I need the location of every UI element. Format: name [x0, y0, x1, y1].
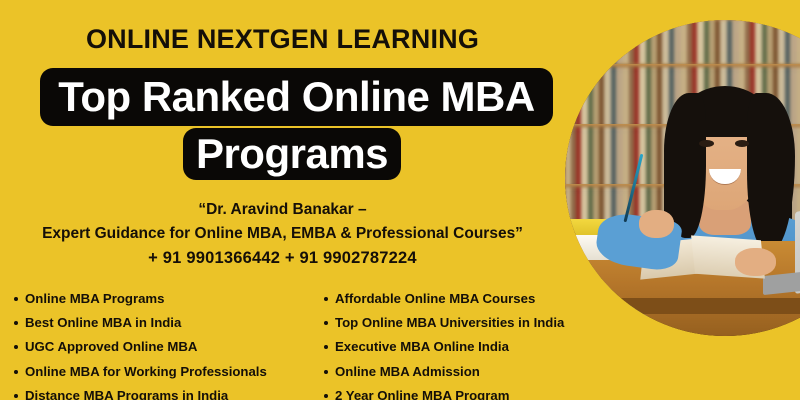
promo-banner: ONLINE NEXTGEN LEARNING Top Ranked Onlin…	[0, 0, 800, 400]
list-item: Online MBA for Working Professionals	[12, 365, 267, 378]
student-photo	[565, 20, 800, 336]
keyword-list-left: Online MBA Programs Best Online MBA in I…	[12, 292, 267, 400]
list-item: Best Online MBA in India	[12, 316, 267, 329]
keyword-list-right: Affordable Online MBA Courses Top Online…	[322, 292, 564, 400]
headline-line-2: Programs	[183, 128, 401, 180]
phone-numbers: + 91 9901366442 + 91 9902787224	[0, 246, 565, 272]
list-item: Online MBA Programs	[12, 292, 267, 305]
list-item: Affordable Online MBA Courses	[322, 292, 564, 305]
subtitle-line-1: “Dr. Aravind Banakar –	[0, 198, 565, 222]
list-item: Top Online MBA Universities in India	[322, 316, 564, 329]
list-item: 2 Year Online MBA Program	[322, 389, 564, 400]
bookshelf-row	[565, 20, 800, 64]
list-item: UGC Approved Online MBA	[12, 340, 267, 353]
desk-edge	[565, 298, 800, 314]
photo-image	[565, 20, 800, 336]
list-item: Executive MBA Online India	[322, 340, 564, 353]
typing-hand	[735, 248, 777, 276]
list-item: Distance MBA Programs in India	[12, 389, 267, 400]
subtitle-line-2: Expert Guidance for Online MBA, EMBA & P…	[0, 222, 565, 246]
subtitle-block: “Dr. Aravind Banakar – Expert Guidance f…	[0, 198, 565, 272]
list-item: Online MBA Admission	[322, 365, 564, 378]
kicker-text: ONLINE NEXTGEN LEARNING	[0, 26, 565, 53]
eye-right	[735, 140, 749, 147]
eye-left	[699, 140, 713, 147]
headline-line-1: Top Ranked Online MBA	[40, 68, 553, 126]
writing-hand	[639, 210, 674, 238]
